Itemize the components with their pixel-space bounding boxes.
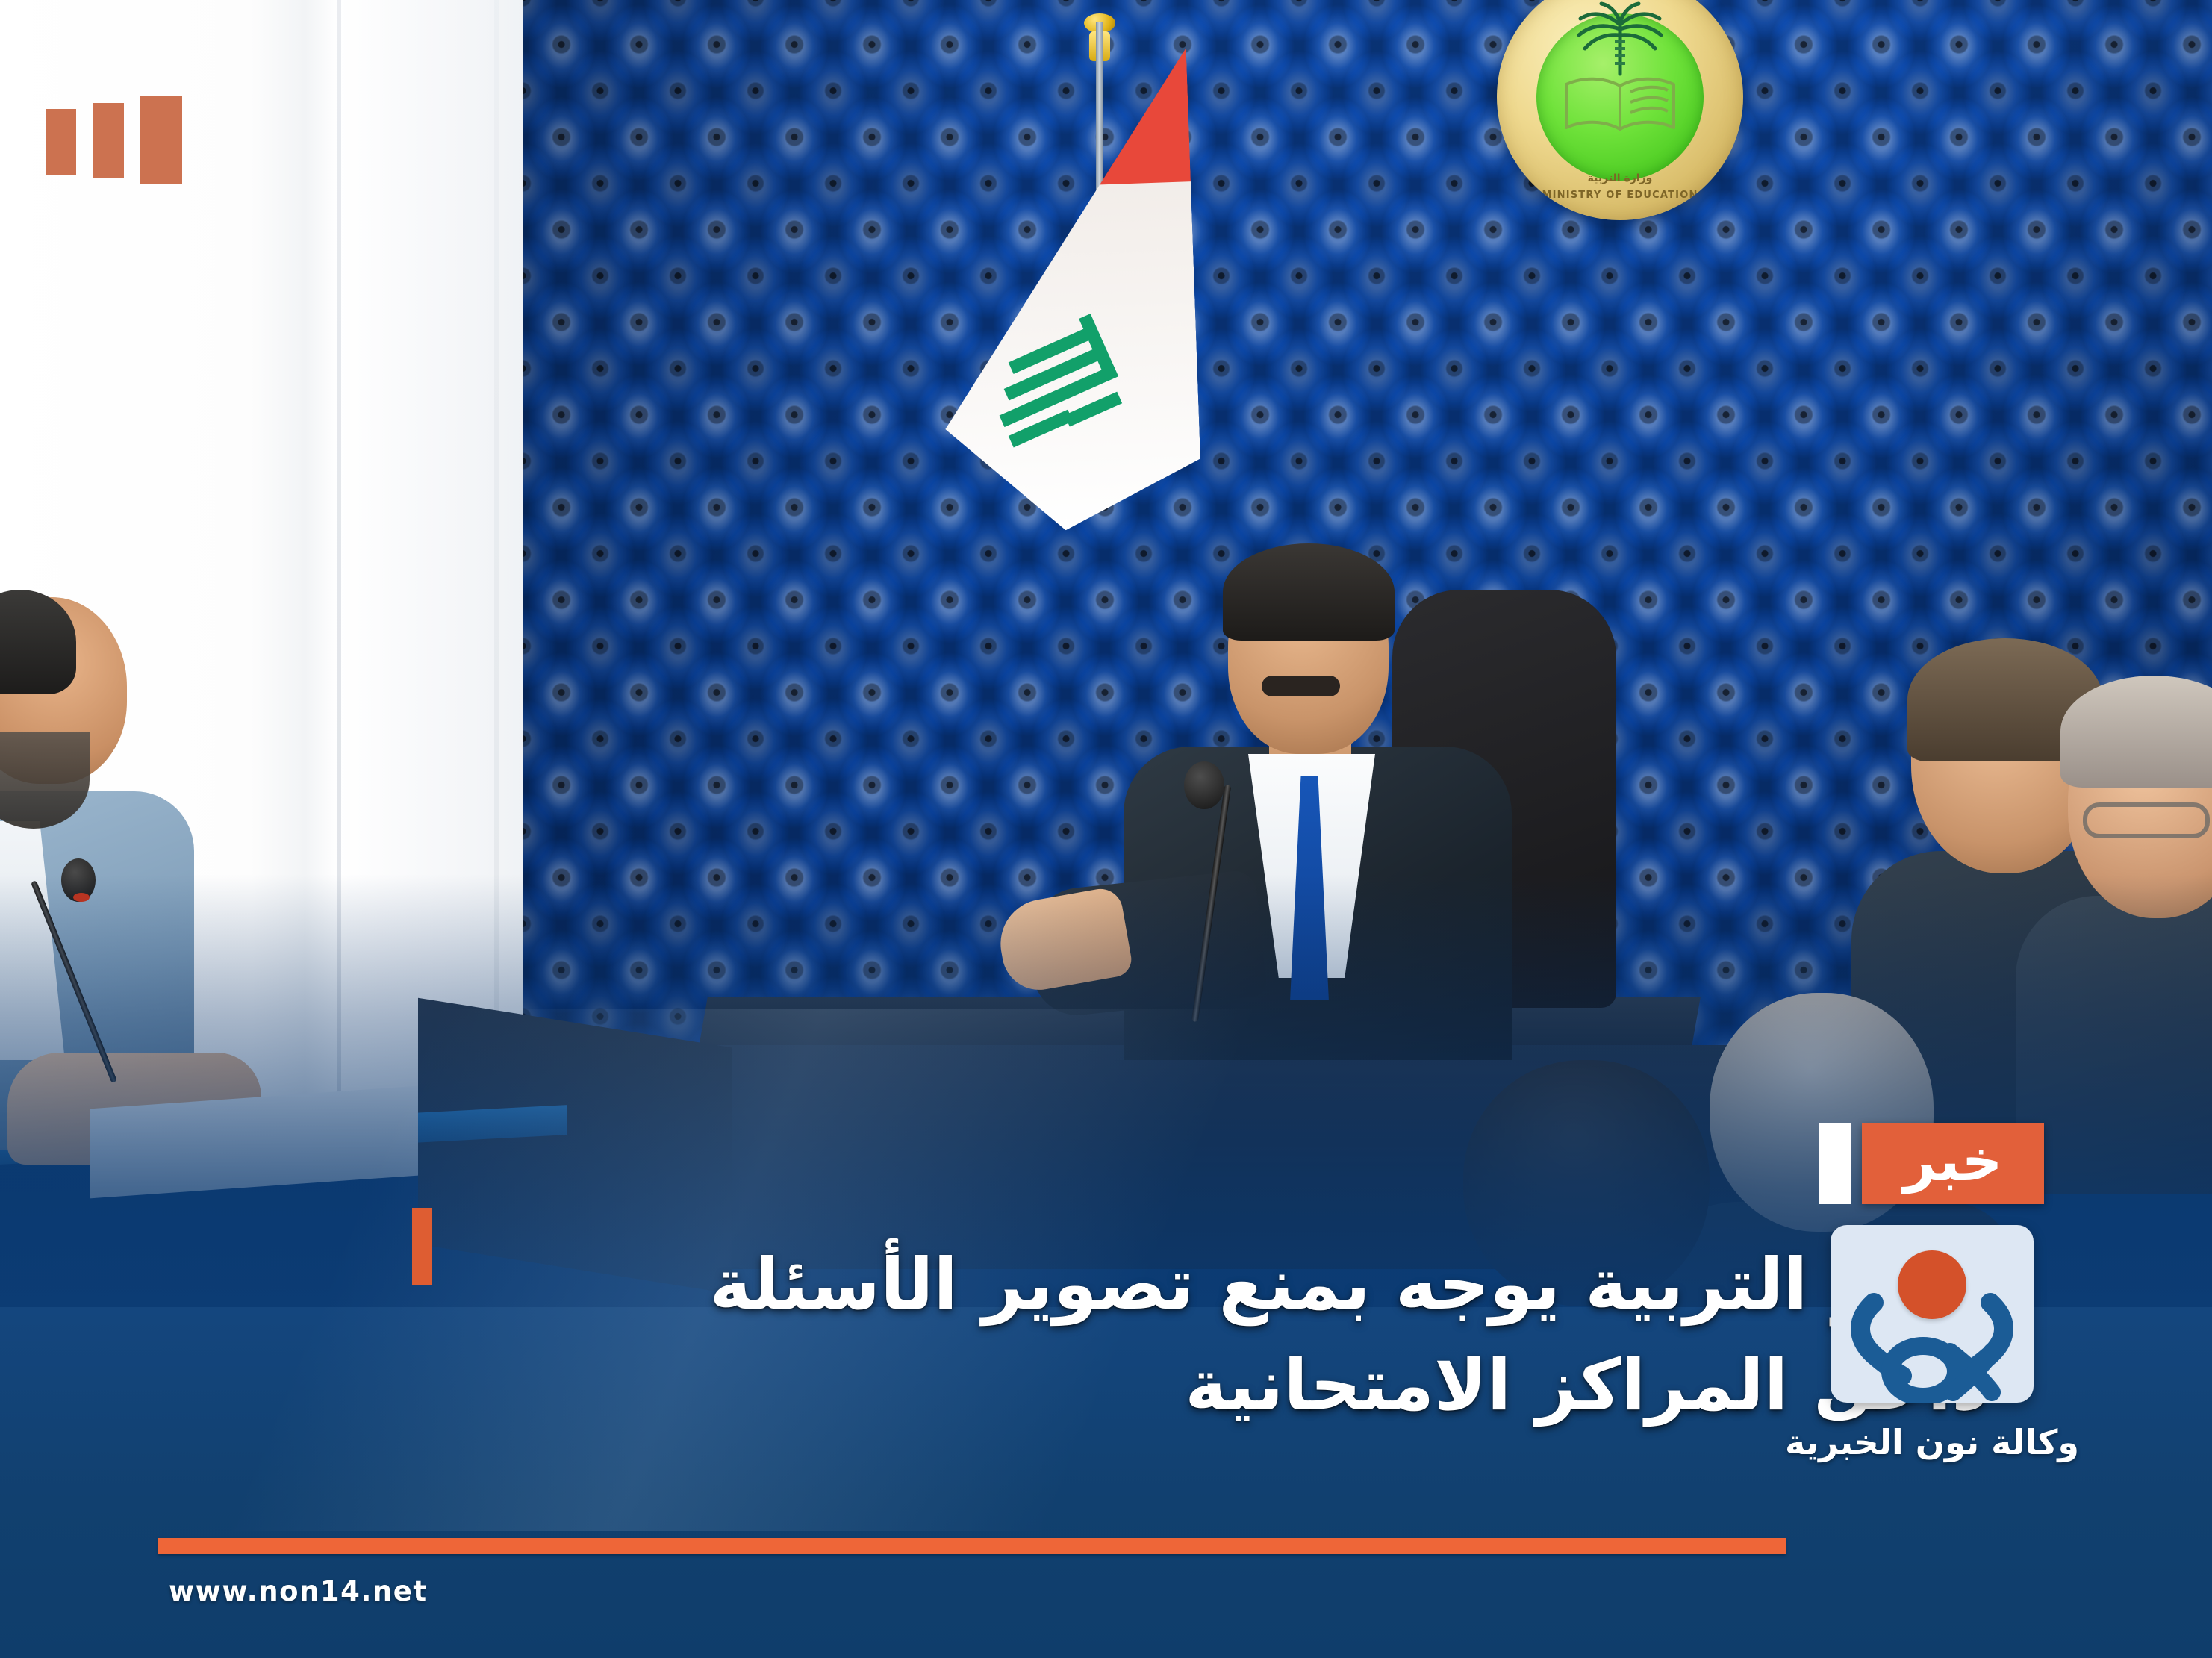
orange-divider-icon xyxy=(158,1538,1786,1554)
logo-arms-glyph xyxy=(1831,1225,2034,1403)
status-badge: خبر xyxy=(1862,1123,2044,1204)
microphone-capsule-center xyxy=(1184,761,1224,809)
person-center-moustache xyxy=(1262,676,1340,696)
bar-3 xyxy=(46,109,76,175)
news-card: وزارة التربية MINISTRY OF EDUCATION xyxy=(0,0,2212,1658)
seal-english-label: MINISTRY OF EDUCATION xyxy=(1497,190,1743,201)
person-center-hair xyxy=(1223,543,1395,641)
seal-arabic-label: وزارة التربية xyxy=(1497,172,1743,184)
page-title: وزير التربية يوجه بمنع تصوير الأسئلة داخ… xyxy=(420,1235,1988,1436)
eyeglasses-icon xyxy=(2083,802,2210,838)
open-book-icon xyxy=(1553,69,1687,141)
brand-name: وكالة نون الخبرية xyxy=(1764,1422,2100,1462)
three-bars-mark-icon xyxy=(46,96,182,184)
bar-2 xyxy=(93,103,124,178)
noon-person-logo-icon[interactable] xyxy=(1831,1225,2034,1403)
status-badge-label: خبر xyxy=(1903,1132,2002,1189)
bar-1 xyxy=(140,96,182,184)
site-url[interactable]: www.non14.net xyxy=(169,1575,428,1607)
brand-block: خبر وكالة نون الخبرية xyxy=(1764,1123,2100,1462)
